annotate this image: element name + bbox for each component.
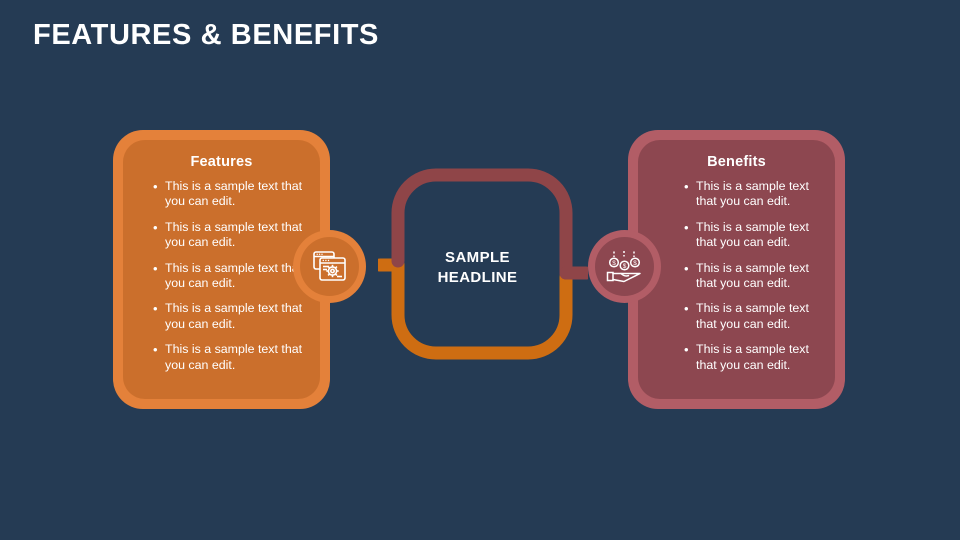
panel-benefits-bullet-list: • This is a sample text that you can edi… (650, 179, 823, 373)
list-item-text: This is a sample text that you can edit. (696, 301, 809, 330)
list-item-text: This is a sample text that you can edit. (696, 342, 809, 371)
panel-benefits-heading: Benefits (650, 154, 823, 170)
list-item-text: This is a sample text that you can edit. (165, 342, 302, 371)
panel-features-bullet-list: • This is a sample text that you can edi… (135, 179, 308, 373)
bullet-dot-icon: • (684, 179, 689, 194)
icon-circle-features[interactable] (293, 230, 366, 303)
list-item-text: This is a sample text that you can edit. (165, 261, 302, 290)
list-item-text: This is a sample text that you can edit. (165, 179, 302, 208)
list-item: • This is a sample text that you can edi… (149, 301, 308, 332)
center-headline-line1: SAMPLE (395, 248, 560, 268)
list-item: • This is a sample text that you can edi… (149, 261, 308, 292)
list-item-text: This is a sample text that you can edit. (165, 301, 302, 330)
list-item: • This is a sample text that you can edi… (680, 301, 823, 332)
panel-benefits-inner: Benefits • This is a sample text that yo… (638, 140, 835, 399)
list-item: • This is a sample text that you can edi… (680, 261, 823, 292)
list-item-text: This is a sample text that you can edit. (696, 220, 809, 249)
icon-circle-benefits[interactable]: $ $ $ (588, 230, 661, 303)
slide-canvas: FEATURES & BENEFITS SAMPLE HEADLINE Feat… (0, 0, 960, 540)
bullet-dot-icon: • (153, 342, 158, 357)
windows-gear-icon (312, 250, 348, 284)
list-item-text: This is a sample text that you can edit. (696, 179, 809, 208)
bullet-dot-icon: • (684, 220, 689, 235)
panel-features-inner: Features • This is a sample text that yo… (123, 140, 320, 399)
center-headline-line2: HEADLINE (395, 268, 560, 288)
bullet-dot-icon: • (153, 179, 158, 194)
list-item: • This is a sample text that you can edi… (149, 220, 308, 251)
bullet-dot-icon: • (153, 301, 158, 316)
list-item: • This is a sample text that you can edi… (680, 179, 823, 210)
center-headline: SAMPLE HEADLINE (395, 248, 560, 288)
svg-text:$: $ (633, 260, 637, 267)
list-item: • This is a sample text that you can edi… (149, 179, 308, 210)
bullet-dot-icon: • (684, 342, 689, 357)
bullet-dot-icon: • (153, 220, 158, 235)
list-item: • This is a sample text that you can edi… (149, 342, 308, 373)
bullet-dot-icon: • (684, 301, 689, 316)
svg-text:$: $ (612, 260, 616, 267)
bullet-dot-icon: • (684, 261, 689, 276)
page-title: FEATURES & BENEFITS (33, 19, 379, 52)
list-item-text: This is a sample text that you can edit. (696, 261, 809, 290)
bullet-dot-icon: • (153, 261, 158, 276)
hand-coins-icon: $ $ $ (606, 250, 644, 284)
list-item-text: This is a sample text that you can edit. (165, 220, 302, 249)
svg-text:$: $ (622, 263, 626, 270)
icon-circle-benefits-inner: $ $ $ (595, 237, 654, 296)
panel-features-heading: Features (135, 154, 308, 170)
list-item: • This is a sample text that you can edi… (680, 220, 823, 251)
list-item: • This is a sample text that you can edi… (680, 342, 823, 373)
icon-circle-features-inner (300, 237, 359, 296)
